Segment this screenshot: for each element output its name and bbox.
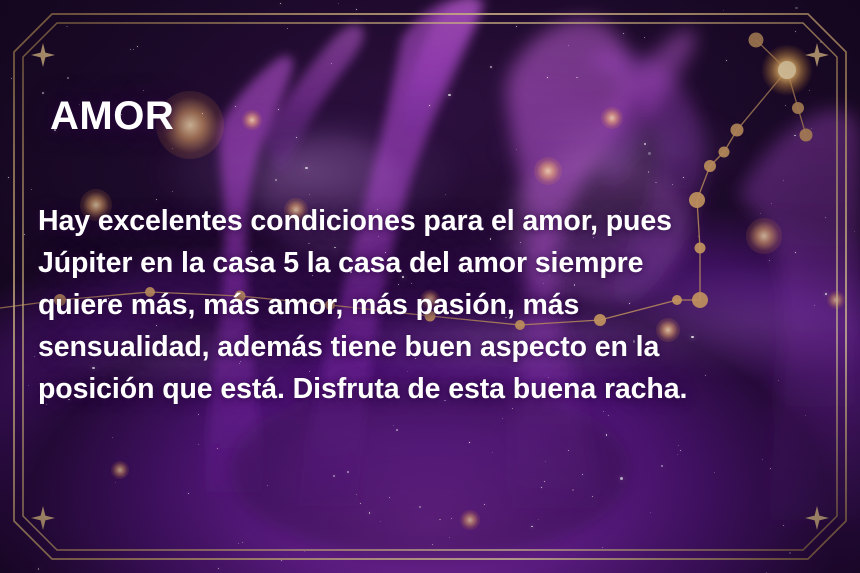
body-line: Júpiter en la casa 5 la casa del amor si… (38, 242, 820, 284)
horoscope-body-text: Hay excelentes condiciones para el amor,… (38, 200, 820, 410)
body-line: Hay excelentes condiciones para el amor,… (38, 200, 820, 242)
body-line: quiere más, más amor, más pasión, más (38, 284, 820, 326)
body-line: sensualidad, además tiene buen aspecto e… (38, 326, 820, 368)
card-content: AMOR Hay excelentes condiciones para el … (0, 0, 860, 573)
body-line: posición que está. Disfruta de esta buen… (38, 368, 820, 410)
horoscope-amor-card: AMOR Hay excelentes condiciones para el … (0, 0, 860, 573)
page-title: AMOR (50, 96, 174, 136)
